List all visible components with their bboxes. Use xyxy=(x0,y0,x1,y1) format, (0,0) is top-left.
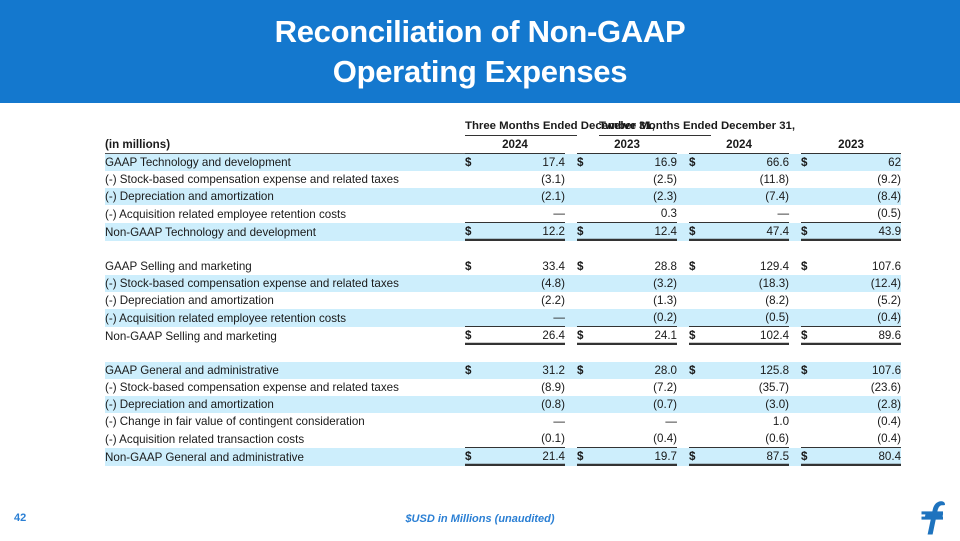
row-value-2: 125.8 xyxy=(711,362,789,379)
row-gap xyxy=(789,327,801,345)
table-row: (-) Depreciation and amortization(0.8)(0… xyxy=(105,396,901,413)
row-currency-3 xyxy=(801,430,823,448)
row-gap xyxy=(677,396,689,413)
row-currency-0: $ xyxy=(465,258,487,275)
row-gap xyxy=(677,430,689,448)
row-value-0: (3.1) xyxy=(487,171,565,188)
row-gap xyxy=(789,413,801,430)
row-currency-1: $ xyxy=(577,154,599,172)
row-value-0: (0.1) xyxy=(487,430,565,448)
row-value-0: 31.2 xyxy=(487,362,565,379)
row-gap xyxy=(677,362,689,379)
row-currency-2: $ xyxy=(689,154,711,172)
slide-title-band: Reconciliation of Non-GAAP Operating Exp… xyxy=(0,0,960,103)
row-value-3: (0.5) xyxy=(823,205,901,223)
row-value-1: 28.8 xyxy=(599,258,677,275)
row-currency-2: $ xyxy=(689,223,711,241)
row-currency-3: $ xyxy=(801,448,823,466)
row-gap xyxy=(677,154,689,172)
row-label: Non-GAAP Selling and marketing xyxy=(105,327,465,345)
row-value-2: 66.6 xyxy=(711,154,789,172)
row-currency-3: $ xyxy=(801,362,823,379)
row-currency-1 xyxy=(577,430,599,448)
row-currency-0 xyxy=(465,396,487,413)
row-value-2: (3.0) xyxy=(711,396,789,413)
table-row: (-) Depreciation and amortization(2.1)(2… xyxy=(105,188,901,205)
row-currency-1: $ xyxy=(577,448,599,466)
row-value-0: 21.4 xyxy=(487,448,565,466)
table-row: (-) Acquisition related employee retenti… xyxy=(105,205,901,223)
page-title: Reconciliation of Non-GAAP Operating Exp… xyxy=(275,12,686,91)
row-currency-1 xyxy=(577,275,599,292)
year-header-1: 2023 xyxy=(577,136,677,154)
row-currency-2: $ xyxy=(689,362,711,379)
row-gap xyxy=(789,223,801,241)
row-label: (-) Depreciation and amortization xyxy=(105,292,465,309)
row-currency-0: $ xyxy=(465,448,487,466)
row-label: (-) Acquisition related employee retenti… xyxy=(105,309,465,327)
row-value-3: (9.2) xyxy=(823,171,901,188)
row-value-1: (2.3) xyxy=(599,188,677,205)
row-currency-3 xyxy=(801,188,823,205)
row-currency-1 xyxy=(577,309,599,327)
table-row: GAAP Technology and development$17.4$16.… xyxy=(105,154,901,172)
row-value-3: 43.9 xyxy=(823,223,901,241)
row-value-2: (8.2) xyxy=(711,292,789,309)
row-label: (-) Acquisition related employee retenti… xyxy=(105,205,465,223)
row-value-0: (2.1) xyxy=(487,188,565,205)
row-currency-3 xyxy=(801,205,823,223)
row-value-2: 102.4 xyxy=(711,327,789,345)
company-f-logo xyxy=(912,500,952,536)
row-gap xyxy=(789,362,801,379)
row-currency-0: $ xyxy=(465,223,487,241)
table-row: (-) Depreciation and amortization(2.2)(1… xyxy=(105,292,901,309)
row-gap xyxy=(677,309,689,327)
row-currency-2 xyxy=(689,275,711,292)
row-currency-3: $ xyxy=(801,223,823,241)
row-value-3: (0.4) xyxy=(823,430,901,448)
row-value-1: (1.3) xyxy=(599,292,677,309)
row-label: GAAP Technology and development xyxy=(105,154,465,172)
row-gap xyxy=(565,362,577,379)
table-row: (-) Stock-based compensation expense and… xyxy=(105,379,901,396)
units-label: (in millions) xyxy=(105,136,465,154)
row-gap xyxy=(565,188,577,205)
row-currency-0 xyxy=(465,292,487,309)
row-value-3: (8.4) xyxy=(823,188,901,205)
row-currency-2 xyxy=(689,171,711,188)
row-value-1: 19.7 xyxy=(599,448,677,466)
row-value-3: (5.2) xyxy=(823,292,901,309)
table-row: Non-GAAP General and administrative$21.4… xyxy=(105,448,901,466)
row-currency-0 xyxy=(465,188,487,205)
row-currency-3 xyxy=(801,171,823,188)
row-currency-1 xyxy=(577,292,599,309)
row-gap xyxy=(789,154,801,172)
row-currency-2 xyxy=(689,188,711,205)
row-value-0: 17.4 xyxy=(487,154,565,172)
row-currency-3 xyxy=(801,413,823,430)
row-gap xyxy=(677,292,689,309)
year-header-row: (in millions)2024202320242023 xyxy=(105,136,901,154)
row-gap xyxy=(789,292,801,309)
row-currency-1: $ xyxy=(577,223,599,241)
row-gap xyxy=(565,205,577,223)
row-value-2: 87.5 xyxy=(711,448,789,466)
reconciliation-table-wrapper: Three Months Ended December 31,Twelve Mo… xyxy=(105,118,865,466)
row-value-0: — xyxy=(487,309,565,327)
row-gap xyxy=(789,275,801,292)
row-label: Non-GAAP General and administrative xyxy=(105,448,465,466)
row-currency-3: $ xyxy=(801,258,823,275)
row-label: (-) Acquisition related transaction cost… xyxy=(105,430,465,448)
row-gap xyxy=(789,258,801,275)
row-gap xyxy=(565,275,577,292)
row-currency-2 xyxy=(689,430,711,448)
year-header-2: 2024 xyxy=(689,136,789,154)
row-value-1: (2.5) xyxy=(599,171,677,188)
row-currency-3: $ xyxy=(801,327,823,345)
row-value-0: (4.8) xyxy=(487,275,565,292)
row-gap xyxy=(789,430,801,448)
group-header-twelve-months: Twelve Months Ended December 31, xyxy=(599,118,711,136)
row-value-2: (7.4) xyxy=(711,188,789,205)
row-label: Non-GAAP Technology and development xyxy=(105,223,465,241)
row-value-3: 107.6 xyxy=(823,362,901,379)
row-gap xyxy=(789,309,801,327)
row-value-3: (23.6) xyxy=(823,379,901,396)
row-value-0: 33.4 xyxy=(487,258,565,275)
row-value-2: (11.8) xyxy=(711,171,789,188)
row-gap xyxy=(565,171,577,188)
row-gap xyxy=(677,171,689,188)
table-row: (-) Stock-based compensation expense and… xyxy=(105,171,901,188)
row-gap xyxy=(677,188,689,205)
year-header-0: 2024 xyxy=(465,136,565,154)
row-value-3: 80.4 xyxy=(823,448,901,466)
row-value-1: 12.4 xyxy=(599,223,677,241)
row-currency-0 xyxy=(465,275,487,292)
row-gap xyxy=(565,309,577,327)
row-value-0: 26.4 xyxy=(487,327,565,345)
row-gap xyxy=(565,223,577,241)
row-gap xyxy=(677,379,689,396)
row-gap xyxy=(789,379,801,396)
row-currency-3: $ xyxy=(801,154,823,172)
row-currency-1 xyxy=(577,413,599,430)
row-currency-1: $ xyxy=(577,258,599,275)
row-gap xyxy=(565,448,577,466)
row-value-0: — xyxy=(487,205,565,223)
row-currency-2: $ xyxy=(689,258,711,275)
row-currency-2 xyxy=(689,205,711,223)
row-currency-0 xyxy=(465,309,487,327)
row-label: (-) Depreciation and amortization xyxy=(105,396,465,413)
row-currency-2 xyxy=(689,292,711,309)
row-currency-3 xyxy=(801,379,823,396)
table-row: GAAP General and administrative$31.2$28.… xyxy=(105,362,901,379)
row-gap xyxy=(677,327,689,345)
row-gap xyxy=(789,171,801,188)
row-gap xyxy=(565,258,577,275)
block-spacer-cell xyxy=(105,241,901,259)
row-gap xyxy=(565,154,577,172)
year-header-3: 2023 xyxy=(801,136,901,154)
row-value-1: 28.0 xyxy=(599,362,677,379)
row-value-1: (7.2) xyxy=(599,379,677,396)
row-value-1: — xyxy=(599,413,677,430)
table-row: Non-GAAP Selling and marketing$26.4$24.1… xyxy=(105,327,901,345)
row-currency-2 xyxy=(689,309,711,327)
block-spacer xyxy=(105,241,901,259)
row-value-1: (0.7) xyxy=(599,396,677,413)
row-currency-1 xyxy=(577,396,599,413)
row-gap xyxy=(565,396,577,413)
row-currency-0 xyxy=(465,413,487,430)
row-value-0: (8.9) xyxy=(487,379,565,396)
row-value-1: 0.3 xyxy=(599,205,677,223)
row-value-2: (35.7) xyxy=(711,379,789,396)
row-value-2: 1.0 xyxy=(711,413,789,430)
row-label: GAAP Selling and marketing xyxy=(105,258,465,275)
row-currency-1 xyxy=(577,205,599,223)
row-currency-3 xyxy=(801,396,823,413)
row-currency-2 xyxy=(689,379,711,396)
group-header-spacer xyxy=(105,118,465,136)
row-value-3: (0.4) xyxy=(823,309,901,327)
row-currency-0: $ xyxy=(465,154,487,172)
group-header-three-months: Three Months Ended December 31, xyxy=(465,118,577,136)
row-value-0: 12.2 xyxy=(487,223,565,241)
row-currency-0 xyxy=(465,379,487,396)
row-currency-0 xyxy=(465,430,487,448)
year-header-gap xyxy=(565,136,577,154)
row-label: (-) Depreciation and amortization xyxy=(105,188,465,205)
row-value-0: — xyxy=(487,413,565,430)
row-currency-2: $ xyxy=(689,448,711,466)
row-value-1: (0.2) xyxy=(599,309,677,327)
row-currency-2: $ xyxy=(689,327,711,345)
block-spacer-cell xyxy=(105,345,901,363)
row-gap xyxy=(677,413,689,430)
row-currency-1: $ xyxy=(577,362,599,379)
row-gap xyxy=(677,258,689,275)
table-row: GAAP Selling and marketing$33.4$28.8$129… xyxy=(105,258,901,275)
row-currency-0 xyxy=(465,205,487,223)
row-gap xyxy=(789,448,801,466)
row-currency-0 xyxy=(465,171,487,188)
row-label: (-) Stock-based compensation expense and… xyxy=(105,379,465,396)
row-value-2: (0.6) xyxy=(711,430,789,448)
row-gap xyxy=(789,205,801,223)
row-currency-2 xyxy=(689,413,711,430)
row-value-1: 24.1 xyxy=(599,327,677,345)
table-row: (-) Stock-based compensation expense and… xyxy=(105,275,901,292)
footnote-units: $USD in Millions (unaudited) xyxy=(0,513,960,525)
row-currency-3 xyxy=(801,309,823,327)
table-row: (-) Acquisition related employee retenti… xyxy=(105,309,901,327)
row-currency-1: $ xyxy=(577,327,599,345)
row-gap xyxy=(677,223,689,241)
row-currency-0: $ xyxy=(465,327,487,345)
row-currency-3 xyxy=(801,275,823,292)
row-gap xyxy=(677,448,689,466)
row-currency-3 xyxy=(801,292,823,309)
row-label: (-) Stock-based compensation expense and… xyxy=(105,171,465,188)
row-value-3: 62 xyxy=(823,154,901,172)
row-currency-1 xyxy=(577,171,599,188)
table-row: Non-GAAP Technology and development$12.2… xyxy=(105,223,901,241)
row-currency-0: $ xyxy=(465,362,487,379)
year-header-gap xyxy=(789,136,801,154)
row-value-2: — xyxy=(711,205,789,223)
row-gap xyxy=(789,396,801,413)
row-label: GAAP General and administrative xyxy=(105,362,465,379)
row-gap xyxy=(565,292,577,309)
row-gap xyxy=(565,379,577,396)
row-label: (-) Stock-based compensation expense and… xyxy=(105,275,465,292)
row-gap xyxy=(565,413,577,430)
block-spacer xyxy=(105,345,901,363)
row-value-3: (2.8) xyxy=(823,396,901,413)
row-value-1: 16.9 xyxy=(599,154,677,172)
row-value-3: (0.4) xyxy=(823,413,901,430)
row-value-0: (2.2) xyxy=(487,292,565,309)
row-gap xyxy=(677,275,689,292)
row-value-2: 129.4 xyxy=(711,258,789,275)
row-gap xyxy=(565,430,577,448)
row-gap xyxy=(565,327,577,345)
row-label: (-) Change in fair value of contingent c… xyxy=(105,413,465,430)
table-row: (-) Change in fair value of contingent c… xyxy=(105,413,901,430)
row-gap xyxy=(789,188,801,205)
row-currency-2 xyxy=(689,396,711,413)
row-value-2: 47.4 xyxy=(711,223,789,241)
row-value-3: 107.6 xyxy=(823,258,901,275)
row-value-3: 89.6 xyxy=(823,327,901,345)
row-value-1: (3.2) xyxy=(599,275,677,292)
column-group-header-row: Three Months Ended December 31,Twelve Mo… xyxy=(105,118,901,136)
row-value-2: (18.3) xyxy=(711,275,789,292)
reconciliation-table: Three Months Ended December 31,Twelve Mo… xyxy=(105,118,901,466)
row-value-2: (0.5) xyxy=(711,309,789,327)
row-gap xyxy=(677,205,689,223)
year-header-gap xyxy=(677,136,689,154)
row-value-0: (0.8) xyxy=(487,396,565,413)
row-value-3: (12.4) xyxy=(823,275,901,292)
table-row: (-) Acquisition related transaction cost… xyxy=(105,430,901,448)
row-currency-1 xyxy=(577,379,599,396)
row-value-1: (0.4) xyxy=(599,430,677,448)
row-currency-1 xyxy=(577,188,599,205)
